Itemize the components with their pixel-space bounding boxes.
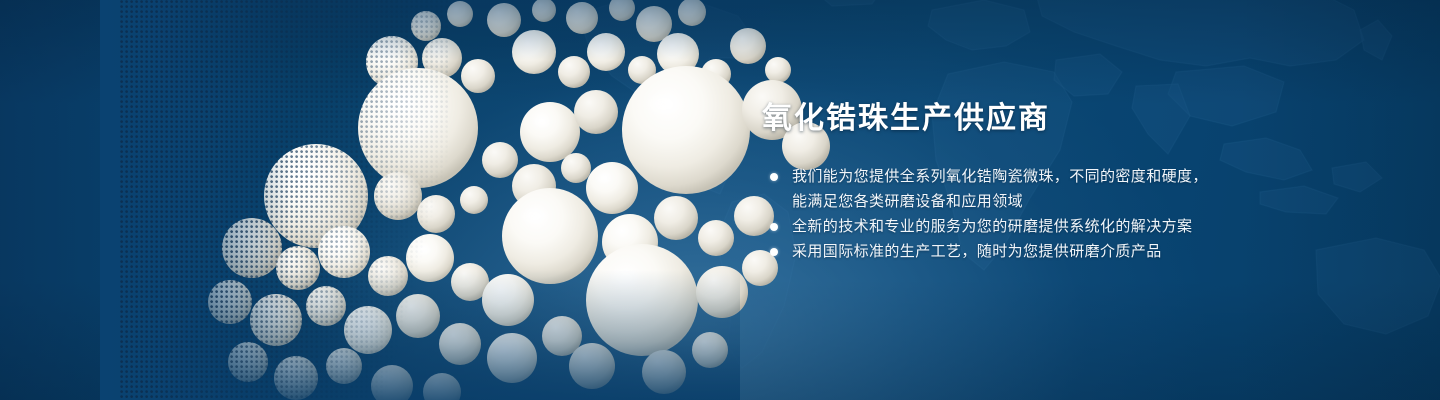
promo-banner: 氧化锆珠生产供应商 我们能为您提供全系列氧化锆陶瓷微珠，不同的密度和硬度， 能满…	[0, 0, 1440, 400]
feature-bullet-item: 采用国际标准的生产工艺，随时为您提供研磨介质产品	[762, 239, 1322, 264]
bullet-text-line-1: 全新的技术和专业的服务为您的研磨提供系统化的解决方案	[792, 218, 1192, 235]
feature-bullet-item: 我们能为您提供全系列氧化锆陶瓷微珠，不同的密度和硬度， 能满足您各类研磨设备和应…	[762, 164, 1322, 214]
feature-bullet-list: 我们能为您提供全系列氧化锆陶瓷微珠，不同的密度和硬度， 能满足您各类研磨设备和应…	[762, 164, 1322, 264]
zirconia-beads-photo	[130, 0, 830, 400]
bullet-text-line-1: 采用国际标准的生产工艺，随时为您提供研磨介质产品	[792, 243, 1162, 260]
banner-headline: 氧化锆珠生产供应商	[762, 100, 1322, 138]
bullet-text-line-2: 能满足您各类研磨设备和应用领域	[792, 189, 1322, 214]
bullet-text-line-1: 我们能为您提供全系列氧化锆陶瓷微珠，不同的密度和硬度，	[792, 168, 1208, 185]
feature-bullet-item: 全新的技术和专业的服务为您的研磨提供系统化的解决方案	[762, 214, 1322, 239]
banner-copy: 氧化锆珠生产供应商 我们能为您提供全系列氧化锆陶瓷微珠，不同的密度和硬度， 能满…	[762, 100, 1322, 264]
bullet-dot-icon	[770, 173, 778, 181]
bullet-dot-icon	[770, 223, 778, 231]
bullet-dot-icon	[770, 248, 778, 256]
